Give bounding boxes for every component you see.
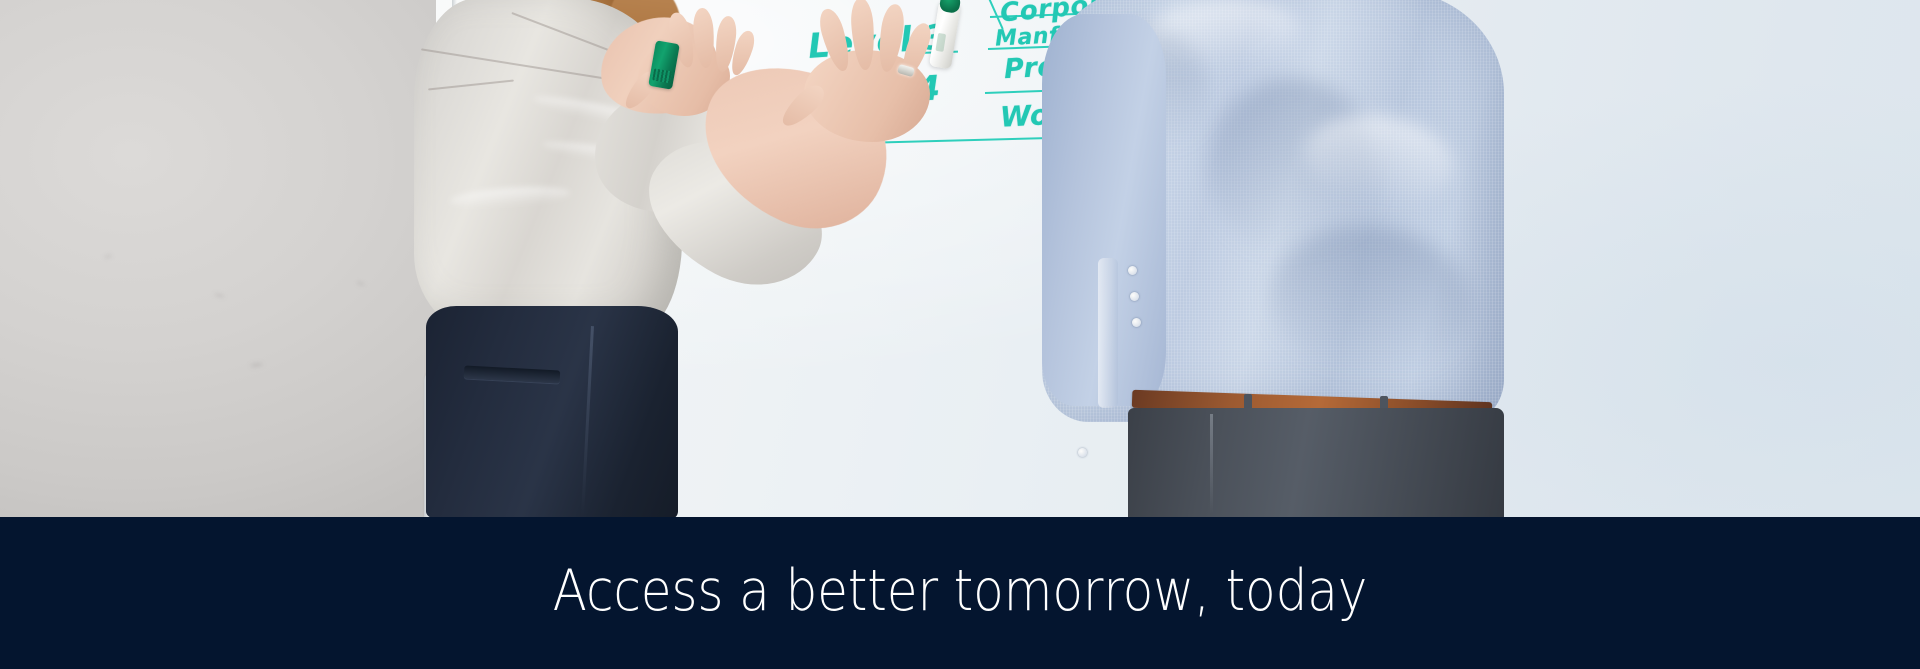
trouser-crease (581, 326, 594, 516)
hero-photo: Corporate Manf / SPA / E Procedure Work … (0, 0, 1920, 517)
blouse-seam (421, 48, 619, 81)
wall-mark (104, 254, 113, 259)
caption-band: Access a better tomorrow, today (0, 517, 1920, 669)
shirt-button (1132, 318, 1141, 327)
wall-mark (356, 280, 365, 286)
hero-headline: Access a better tomorrow, today (115, 517, 1805, 669)
blouse-seam (511, 12, 616, 54)
person-man (1042, 0, 1520, 517)
wall-mark (250, 362, 263, 368)
wall-mark (214, 293, 225, 299)
trousers (426, 306, 678, 517)
trouser-pocket (464, 365, 561, 383)
sleeve-placket (1098, 258, 1118, 408)
office-wall (0, 0, 436, 517)
blouse-seam (428, 80, 514, 91)
shirt-button (1128, 266, 1137, 275)
hero-banner: Corporate Manf / SPA / E Procedure Work … (0, 0, 1920, 669)
shirt-button (1130, 292, 1139, 301)
cuff-button (1078, 448, 1087, 457)
fabric-fold (450, 184, 571, 210)
trouser-crease (1210, 414, 1213, 514)
trousers (1128, 408, 1504, 517)
